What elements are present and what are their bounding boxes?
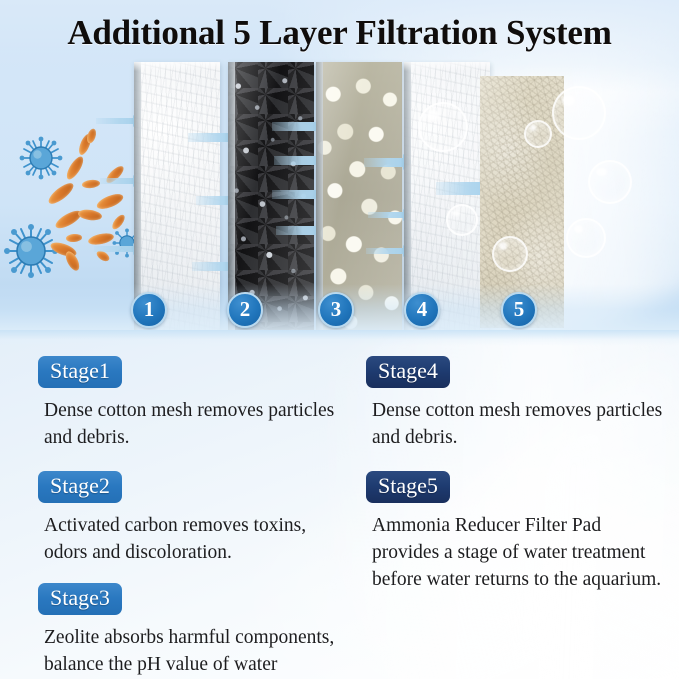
layer-number-badge: 2 — [227, 292, 263, 328]
bacteria-icon — [66, 233, 83, 242]
bacteria-icon — [85, 128, 97, 145]
stage-3-description: Zeolite absorbs harmful components, bala… — [44, 624, 348, 678]
layer-number-badge: 3 — [318, 292, 354, 328]
stage-4-description: Dense cotton mesh removes particles and … — [372, 397, 671, 451]
section-divider — [0, 330, 679, 346]
water-flow-arrow — [96, 118, 134, 124]
filter-layer-4 — [404, 62, 490, 330]
layer-number-badge: 5 — [501, 292, 537, 328]
stage-2-description: Activated carbon removes toxins, odors a… — [44, 512, 348, 566]
bacteria-icon — [87, 231, 115, 246]
stage-block-5: Stage5 Ammonia Reducer Filter Pad provid… — [366, 471, 671, 593]
filtration-diagram-scene: 1 2 3 4 5 Additional 5 Layer Filtration … — [0, 0, 679, 330]
fibre-mat-filter-panel — [480, 76, 564, 328]
bubble-icon — [588, 160, 632, 204]
stage-5-badge: Stage5 — [366, 471, 450, 503]
bubble-icon — [566, 218, 606, 258]
bacteria-icon — [64, 154, 86, 181]
stage-block-3: Stage3 Zeolite absorbs harmful component… — [38, 583, 348, 678]
stage-1-badge: Stage1 — [38, 356, 122, 388]
stage-4-badge: Stage4 — [366, 356, 450, 388]
water-flow-arrow — [368, 212, 404, 218]
panel-top-bevel — [134, 62, 220, 71]
cotton-filter-panel — [404, 62, 490, 330]
bacteria-icon — [82, 179, 101, 189]
stage-2-badge: Stage2 — [38, 471, 122, 503]
stage-3-badge: Stage3 — [38, 583, 122, 615]
filter-layer-5 — [480, 76, 564, 328]
water-flow-arrow — [272, 190, 320, 199]
filter-layer-3 — [316, 62, 402, 330]
water-flow-arrow — [100, 178, 134, 184]
zeolite-filter-panel — [316, 62, 402, 330]
water-flow-arrow — [272, 122, 320, 131]
virus-icon — [18, 135, 64, 186]
layer-number-badge: 1 — [131, 292, 167, 328]
panel-edge — [404, 62, 411, 330]
panel-edge — [228, 62, 235, 330]
layer-number-badge: 4 — [404, 292, 440, 328]
stage-5-description: Ammonia Reducer Filter Pad provides a st… — [372, 512, 671, 593]
filtration-system-poster: 1 2 3 4 5 Additional 5 Layer Filtration … — [0, 0, 679, 679]
stage-column-left: Stage1 Dense cotton mesh removes particl… — [38, 356, 348, 679]
water-flow-arrow — [276, 226, 320, 235]
bacteria-icon — [77, 208, 102, 221]
stage-column-right: Stage4 Dense cotton mesh removes particl… — [366, 356, 671, 613]
virus-icon — [2, 222, 60, 285]
panel-top-bevel — [404, 62, 490, 71]
stage-descriptions-area: Stage1 Dense cotton mesh removes particl… — [0, 330, 679, 679]
stage-block-1: Stage1 Dense cotton mesh removes particl… — [38, 356, 348, 451]
stage-block-4: Stage4 Dense cotton mesh removes particl… — [366, 356, 671, 451]
bacteria-icon — [95, 191, 125, 212]
page-title: Additional 5 Layer Filtration System — [0, 13, 679, 53]
water-flow-arrow — [366, 248, 404, 254]
water-flow-arrow — [94, 246, 134, 252]
stage-1-description: Dense cotton mesh removes particles and … — [44, 397, 348, 451]
water-flow-arrow — [364, 158, 404, 167]
panel-edge — [316, 62, 323, 330]
water-flow-arrow — [274, 156, 320, 165]
panel-edge — [134, 62, 141, 330]
bacteria-icon — [63, 249, 82, 272]
stage-block-2: Stage2 Activated carbon removes toxins, … — [38, 471, 348, 566]
